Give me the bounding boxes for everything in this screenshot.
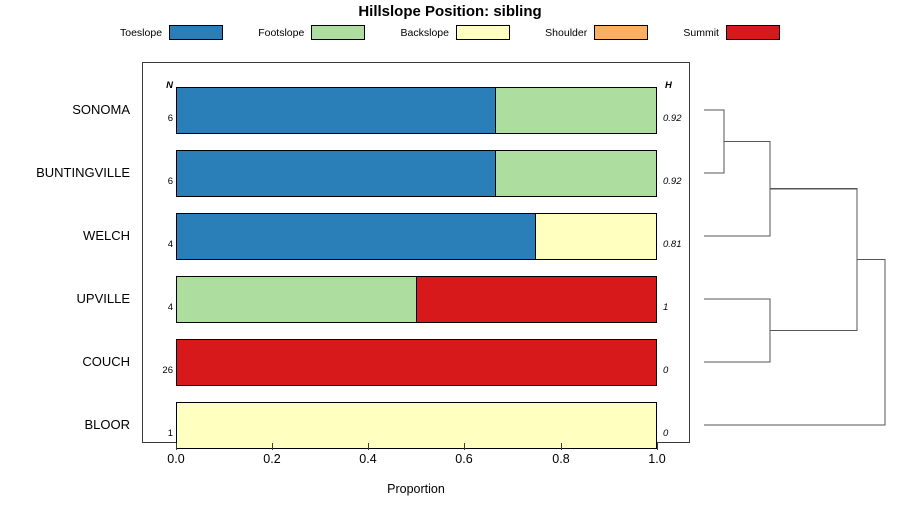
bar-row-couch[interactable] bbox=[176, 339, 657, 386]
x-tick-3 bbox=[464, 443, 465, 450]
dendrogram-svg bbox=[690, 62, 900, 443]
legend-swatch-summit bbox=[726, 25, 780, 40]
y-label-welch: WELCH bbox=[0, 228, 130, 243]
bar-row-buntingville[interactable] bbox=[176, 150, 657, 197]
bars-layer bbox=[142, 62, 690, 443]
dendrogram bbox=[690, 62, 900, 443]
h-column: H 0.92 0.92 0.81 1 0 0 bbox=[657, 62, 690, 443]
legend-swatch-footslope bbox=[311, 25, 365, 40]
x-tick-label-1: 0.2 bbox=[252, 452, 292, 466]
x-tick-label-4: 0.8 bbox=[541, 452, 581, 466]
bar-segment-summit[interactable] bbox=[417, 277, 657, 322]
legend-swatch-toeslope bbox=[169, 25, 223, 40]
bar-segment-backslope[interactable] bbox=[177, 403, 656, 448]
x-axis: 0.0 0.2 0.4 0.6 0.8 1.0 bbox=[142, 443, 690, 483]
x-tick-5 bbox=[657, 443, 658, 450]
stacked-bar-sonoma[interactable] bbox=[176, 87, 657, 134]
page-title: Hillslope Position: sibling bbox=[0, 3, 900, 20]
legend-item-backslope: Backslope bbox=[401, 25, 510, 40]
legend-label-toeslope: Toeslope bbox=[120, 27, 162, 39]
legend: Toeslope Footslope Backslope Shoulder Su… bbox=[120, 24, 780, 41]
h-column-header: H bbox=[665, 80, 672, 91]
dendro-merge-root-bloor bbox=[704, 260, 885, 425]
y-label-upville: UPVILLE bbox=[0, 291, 130, 306]
x-tick-label-5: 1.0 bbox=[637, 452, 677, 466]
h-value-sonoma: 0.92 bbox=[663, 113, 682, 124]
bar-row-bloor[interactable] bbox=[176, 402, 657, 449]
legend-label-footslope: Footslope bbox=[258, 27, 304, 39]
bar-segment-summit[interactable] bbox=[177, 340, 656, 385]
stacked-bar-bloor[interactable] bbox=[176, 402, 657, 449]
bar-row-welch[interactable] bbox=[176, 213, 657, 260]
dendro-merge-sonoma-buntingville bbox=[704, 110, 724, 173]
stacked-bar-welch[interactable] bbox=[176, 213, 657, 260]
x-tick-0 bbox=[176, 443, 177, 450]
legend-label-backslope: Backslope bbox=[401, 27, 449, 39]
legend-item-toeslope: Toeslope bbox=[120, 25, 223, 40]
legend-item-shoulder: Shoulder bbox=[545, 25, 648, 40]
x-tick-4 bbox=[561, 443, 562, 450]
bar-segment-toeslope[interactable] bbox=[177, 151, 496, 196]
bar-row-upville[interactable] bbox=[176, 276, 657, 323]
y-label-bloor: BLOOR bbox=[0, 417, 130, 432]
bar-segment-footslope[interactable] bbox=[496, 151, 656, 196]
y-label-sonoma: SONOMA bbox=[0, 102, 130, 117]
x-tick-1 bbox=[272, 443, 273, 450]
dendro-merge-cluster-welch bbox=[704, 142, 770, 237]
bar-segment-toeslope[interactable] bbox=[177, 214, 536, 259]
h-value-buntingville: 0.92 bbox=[663, 176, 682, 187]
legend-swatch-backslope bbox=[456, 25, 510, 40]
x-tick-label-3: 0.6 bbox=[444, 452, 484, 466]
legend-label-summit: Summit bbox=[683, 27, 719, 39]
h-value-upville: 1 bbox=[663, 302, 668, 313]
legend-label-shoulder: Shoulder bbox=[545, 27, 587, 39]
h-value-bloor: 0 bbox=[663, 428, 668, 439]
y-label-buntingville: BUNTINGVILLE bbox=[0, 165, 130, 180]
y-axis-labels: SONOMA BUNTINGVILLE WELCH UPVILLE COUCH … bbox=[0, 62, 136, 443]
y-label-couch: COUCH bbox=[0, 354, 130, 369]
x-axis-title: Proportion bbox=[142, 482, 690, 496]
bar-segment-backslope[interactable] bbox=[536, 214, 656, 259]
h-value-couch: 0 bbox=[663, 365, 668, 376]
x-tick-label-2: 0.4 bbox=[348, 452, 388, 466]
legend-item-summit: Summit bbox=[683, 25, 780, 40]
legend-item-footslope: Footslope bbox=[258, 25, 365, 40]
stacked-bar-couch[interactable] bbox=[176, 339, 657, 386]
stacked-bar-upville[interactable] bbox=[176, 276, 657, 323]
h-value-welch: 0.81 bbox=[663, 239, 682, 250]
bar-segment-footslope[interactable] bbox=[496, 88, 656, 133]
bar-row-sonoma[interactable] bbox=[176, 87, 657, 134]
bar-segment-toeslope[interactable] bbox=[177, 88, 496, 133]
x-tick-label-0: 0.0 bbox=[156, 452, 196, 466]
legend-swatch-shoulder bbox=[594, 25, 648, 40]
x-tick-2 bbox=[368, 443, 369, 450]
stacked-bar-buntingville[interactable] bbox=[176, 150, 657, 197]
dendro-merge-upper-lower bbox=[770, 189, 857, 331]
dendro-merge-upville-couch bbox=[704, 299, 770, 362]
bar-segment-footslope[interactable] bbox=[177, 277, 417, 322]
